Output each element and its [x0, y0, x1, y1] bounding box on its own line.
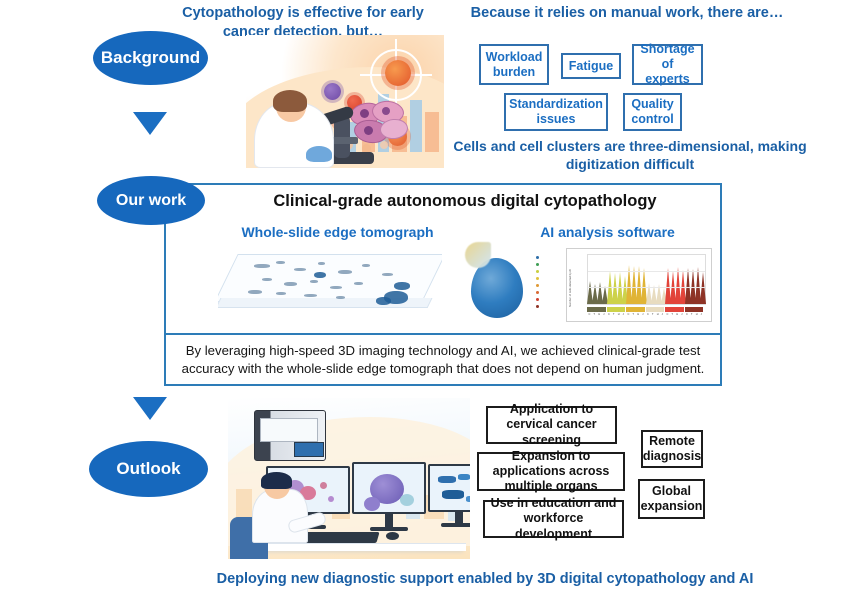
person-hair-icon — [261, 472, 292, 489]
cell-cluster-visual — [364, 497, 380, 511]
outlook-box-education-workforce: Use in education and workforce developme… — [483, 500, 624, 538]
chart-tick-label: C — [647, 313, 649, 316]
chart-tick-label: C — [666, 313, 668, 316]
cell-speck — [362, 264, 370, 267]
chart-tick-label: J — [662, 313, 663, 316]
stage-pill-outlook: Outlook — [89, 441, 208, 497]
cell-speck — [330, 286, 342, 289]
outlook-box-global-expansion: Global expansion — [638, 479, 705, 519]
problem-box-label: Fatigue — [569, 59, 613, 74]
problem-box-label: Shortage of experts — [638, 42, 697, 87]
monitor-base-icon — [370, 527, 408, 531]
chart-category-band — [646, 307, 665, 312]
pathologist-workstation-illustration — [228, 398, 470, 559]
scanner-window-icon — [260, 418, 318, 442]
outlook-caption: Deploying new diagnostic support enabled… — [120, 570, 850, 589]
problem-box-workload-burden: Workload burden — [479, 44, 549, 85]
flow-arrow-down-icon — [133, 397, 167, 420]
key-dot — [536, 270, 539, 273]
key-dot — [536, 263, 539, 266]
cytopathologist-microscope-illustration — [246, 35, 444, 168]
our-work-panel-title: Clinical-grade autonomous digital cytopa… — [215, 192, 715, 211]
key-dot — [536, 256, 539, 259]
chart-gridline — [588, 271, 705, 272]
chart-tick-label: J — [623, 313, 624, 316]
infographic-canvas: Background Cytopathology is effective fo… — [0, 0, 850, 600]
stage-pill-our-work-label: Our work — [116, 192, 186, 210]
virus-cell-icon — [324, 83, 341, 100]
cell-speck — [294, 268, 306, 271]
chart-tick-label: C — [608, 313, 610, 316]
chart-tick-label: J — [642, 313, 643, 316]
keyboard-icon — [298, 532, 379, 543]
cell-cluster-speck — [314, 272, 326, 278]
our-work-summary-box: By leveraging high-speed 3D imaging tech… — [164, 333, 722, 386]
outlook-box-label: Application to cervical cancer screening — [493, 402, 610, 448]
ai-analysis-chart-thumbnail: Number of cells detected by AI CTHJCTHJC… — [566, 248, 712, 322]
cell-speck — [262, 278, 272, 281]
chart-tick-label: T — [691, 313, 693, 316]
stage-pill-background-label: Background — [101, 48, 200, 68]
cell-nucleus-icon — [360, 109, 369, 118]
our-work-summary-text: By leveraging high-speed 3D imaging tech… — [180, 342, 706, 378]
gloved-hand-icon — [306, 146, 332, 162]
chart-category-band — [685, 307, 704, 312]
monitor-stand-icon — [385, 514, 393, 528]
chart-category-axis: CTHJCTHJCTHJCTHJCTHJCTHJ — [587, 307, 706, 319]
chart-tick-label: T — [593, 313, 595, 316]
chart-tick-label: T — [652, 313, 654, 316]
problem-box-label: Quality control — [629, 97, 676, 127]
scanner-touch-panel-icon — [294, 442, 324, 457]
chart-tick-label: H — [598, 313, 600, 316]
chart-tick-label: J — [681, 313, 682, 316]
chart-tick-label: T — [671, 313, 673, 316]
cell-visual — [328, 496, 334, 502]
problem-box-standardization-issues: Standardization issues — [504, 93, 608, 131]
chart-y-axis-label: Number of cells detected by AI — [568, 255, 578, 307]
chart-violin-bar — [700, 272, 706, 304]
outlook-box-cervical-cancer-screening: Application to cervical cancer screening — [486, 406, 617, 444]
cell-speck — [304, 294, 317, 297]
cell-nucleus-icon — [364, 126, 373, 135]
chart-category-band — [587, 307, 606, 312]
tomograph-visual — [438, 476, 456, 483]
monitor-base-icon — [441, 523, 470, 527]
background-headline-right: Because it relies on manual work, there … — [462, 4, 792, 23]
chart-category-band — [626, 307, 645, 312]
monitor-screen-center — [352, 462, 426, 514]
chart-tick-label: H — [637, 313, 639, 316]
cell-nucleus-icon — [382, 107, 390, 115]
chart-tick-label: T — [632, 313, 634, 316]
problem-box-fatigue: Fatigue — [561, 53, 621, 79]
chart-tick-label: C — [686, 313, 688, 316]
cell-speck — [254, 264, 270, 268]
cell-speck — [338, 270, 352, 274]
cancer-cell-icon — [385, 60, 411, 86]
mouse-icon — [386, 532, 399, 540]
chart-category-band — [607, 307, 626, 312]
stage-pill-outlook-label: Outlook — [116, 459, 180, 479]
cell-speck — [318, 262, 325, 265]
chart-tick-label: J — [701, 313, 702, 316]
three-dimensional-note: Cells and cell clusters are three-dimens… — [420, 138, 840, 174]
chart-tick-label: C — [627, 313, 629, 316]
tomograph-visual — [458, 474, 470, 480]
key-dot — [536, 277, 539, 280]
cell-cluster-speck — [376, 297, 391, 305]
glass-slide-surface — [218, 254, 442, 302]
chart-plot-area — [587, 254, 706, 305]
cell-cluster-visual — [400, 494, 414, 506]
key-dot — [536, 298, 539, 301]
cell-speck — [276, 261, 285, 264]
cluster-highlight-tail — [465, 242, 491, 268]
person-hair-icon — [273, 90, 307, 112]
outlook-box-label: Remote diagnosis — [643, 434, 701, 465]
key-dot — [536, 291, 539, 294]
cell-speck — [310, 280, 318, 283]
chart-tick-label: H — [657, 313, 659, 316]
tomograph-visual — [442, 490, 464, 499]
key-dot — [536, 284, 539, 287]
outlook-box-remote-diagnosis: Remote diagnosis — [641, 430, 703, 468]
cluster-color-key — [536, 256, 542, 316]
cell-speck — [276, 292, 286, 295]
problem-box-quality-control: Quality control — [623, 93, 682, 131]
chart-tick-label: H — [676, 313, 678, 316]
ai-analysis-software-subtitle: AI analysis software — [500, 224, 715, 240]
key-dot — [536, 305, 539, 308]
stage-pill-our-work: Our work — [97, 176, 205, 225]
3d-cell-cluster-point-cloud — [463, 240, 529, 324]
problem-box-shortage-of-experts: Shortage of experts — [632, 44, 703, 85]
cell-speck — [354, 282, 363, 285]
chart-tick-label: H — [618, 313, 620, 316]
cell-speck — [284, 282, 297, 286]
desk-surface — [238, 543, 466, 551]
chart-category-band — [665, 307, 684, 312]
chart-tick-label: C — [588, 313, 590, 316]
chart-tick-label: T — [613, 313, 615, 316]
tomograph-visual — [466, 496, 470, 502]
outlook-box-multiple-organs: Expansion to applications across multipl… — [477, 452, 625, 491]
outlook-box-label: Expansion to applications across multipl… — [484, 449, 618, 495]
whole-slide-edge-tomograph-subtitle: Whole-slide edge tomograph — [215, 224, 460, 240]
outlook-box-label: Global expansion — [641, 484, 703, 515]
chart-tick-label: J — [603, 313, 604, 316]
problem-box-label: Workload burden — [485, 50, 543, 80]
cell-speck — [248, 290, 262, 294]
problem-box-label: Standardization issues — [509, 97, 603, 127]
flow-arrow-down-icon — [133, 112, 167, 135]
outlook-box-label: Use in education and workforce developme… — [490, 496, 617, 542]
whole-slide-specimen-illustration — [218, 248, 442, 320]
chart-tick-label: H — [696, 313, 698, 316]
cell-visual — [320, 482, 327, 489]
cell-speck — [336, 296, 345, 299]
chart-gridline — [588, 287, 705, 288]
small-cell-icon — [380, 141, 388, 149]
cell-speck — [382, 273, 393, 276]
monitor-screen-right — [428, 464, 470, 512]
cell-cluster-speck — [394, 282, 410, 290]
